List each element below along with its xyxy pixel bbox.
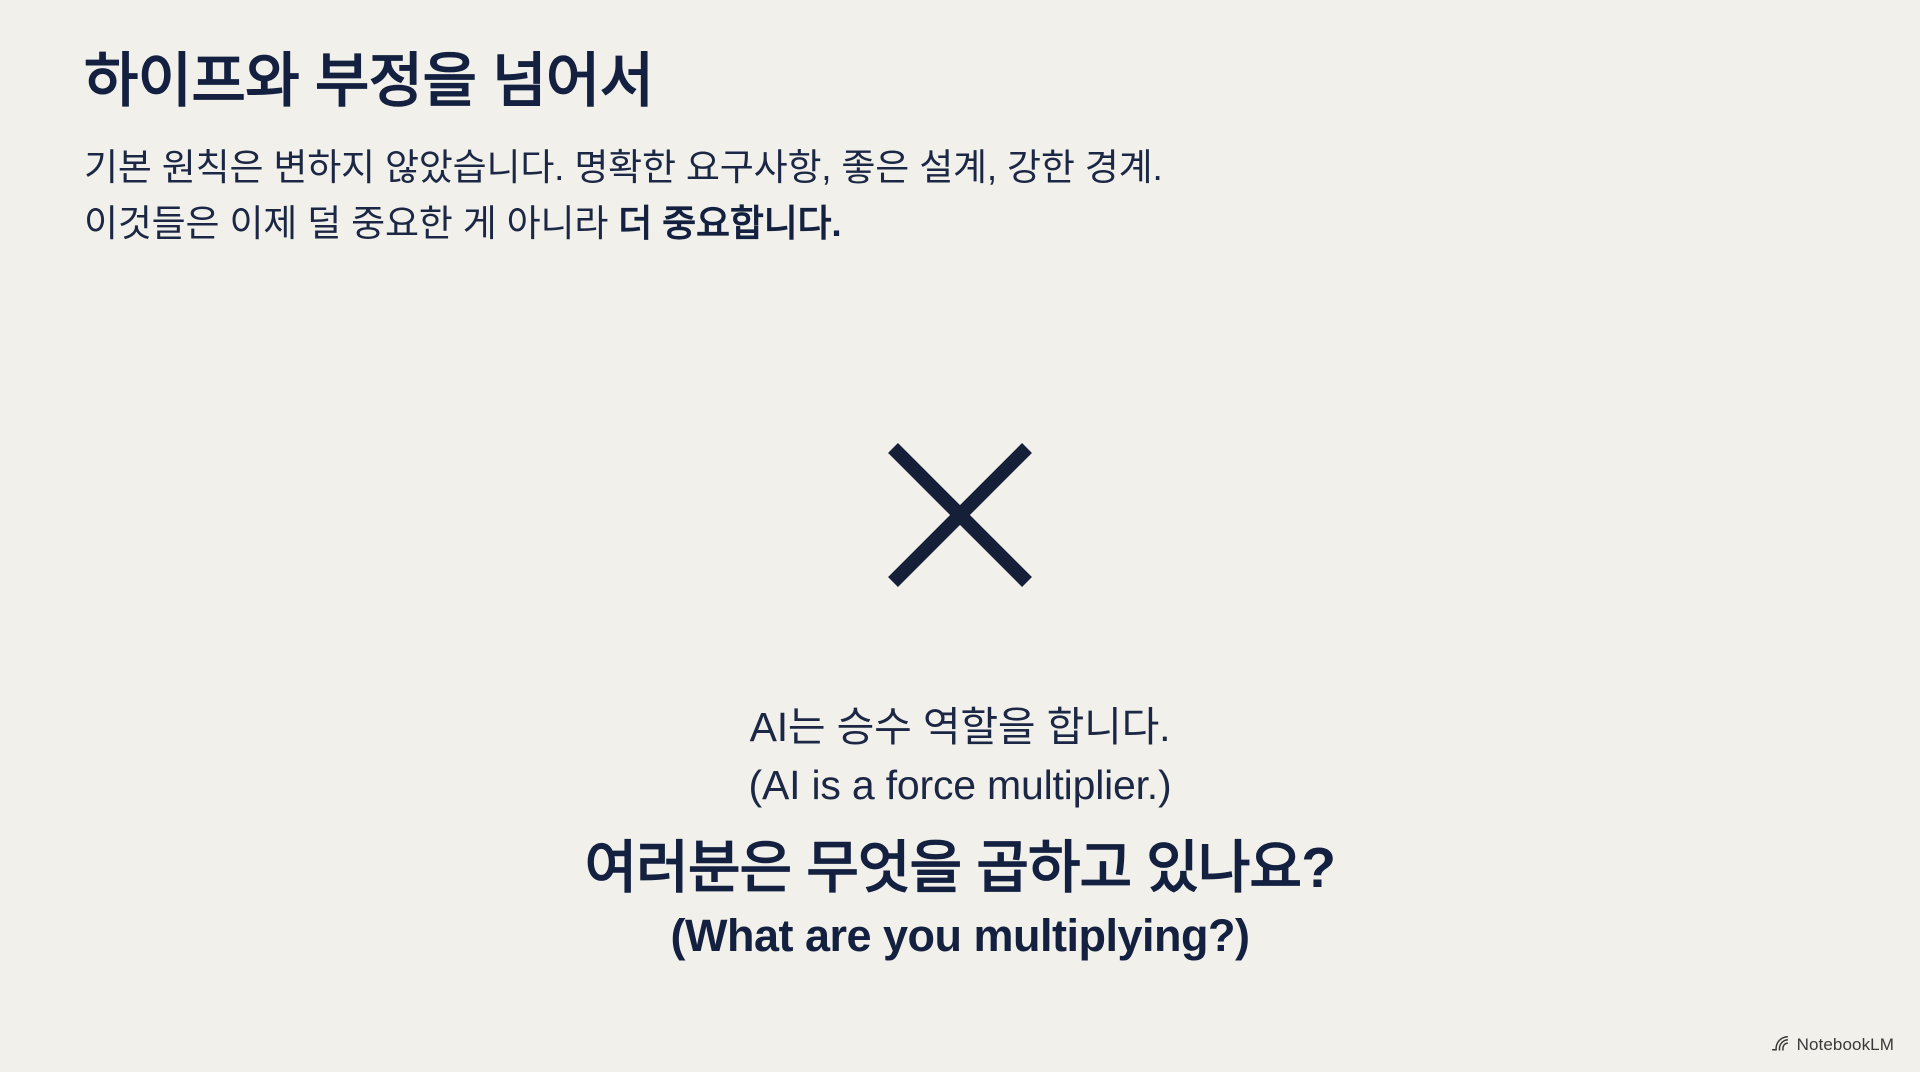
- subtitle-line-2-emphasis: 더 중요합니다.: [618, 203, 841, 244]
- multiply-x-mark-icon: [885, 440, 1035, 590]
- subtitle-line-2: 이것들은 이제 덜 중요한 게 아니라 더 중요합니다.: [84, 196, 1784, 252]
- slide-bottom-block: AI는 승수 역할을 합니다. (AI is a force multiplie…: [0, 700, 1920, 963]
- watermark-label: NotebookLM: [1797, 1036, 1894, 1053]
- multiply-mark-container: [0, 440, 1920, 590]
- korean-statement: AI는 승수 역할을 합니다.: [0, 700, 1920, 754]
- english-question: (What are you multiplying?): [0, 909, 1920, 963]
- watermark: NotebookLM: [1770, 1034, 1894, 1054]
- english-statement: (AI is a force multiplier.): [0, 758, 1920, 812]
- korean-question: 여러분은 무엇을 곱하고 있나요?: [0, 834, 1920, 902]
- notebooklm-spiral-icon: [1770, 1034, 1790, 1054]
- slide-subtitle: 기본 원칙은 변하지 않았습니다. 명확한 요구사항, 좋은 설계, 강한 경계…: [84, 140, 1784, 252]
- subtitle-line-2-prefix: 이것들은 이제 덜 중요한 게 아니라: [84, 203, 618, 244]
- slide-canvas: 하이프와 부정을 넘어서 기본 원칙은 변하지 않았습니다. 명확한 요구사항,…: [0, 0, 1920, 1072]
- page-title: 하이프와 부정을 넘어서: [84, 48, 1784, 114]
- slide-header: 하이프와 부정을 넘어서 기본 원칙은 변하지 않았습니다. 명확한 요구사항,…: [84, 48, 1784, 253]
- subtitle-line-1: 기본 원칙은 변하지 않았습니다. 명확한 요구사항, 좋은 설계, 강한 경계…: [84, 140, 1784, 196]
